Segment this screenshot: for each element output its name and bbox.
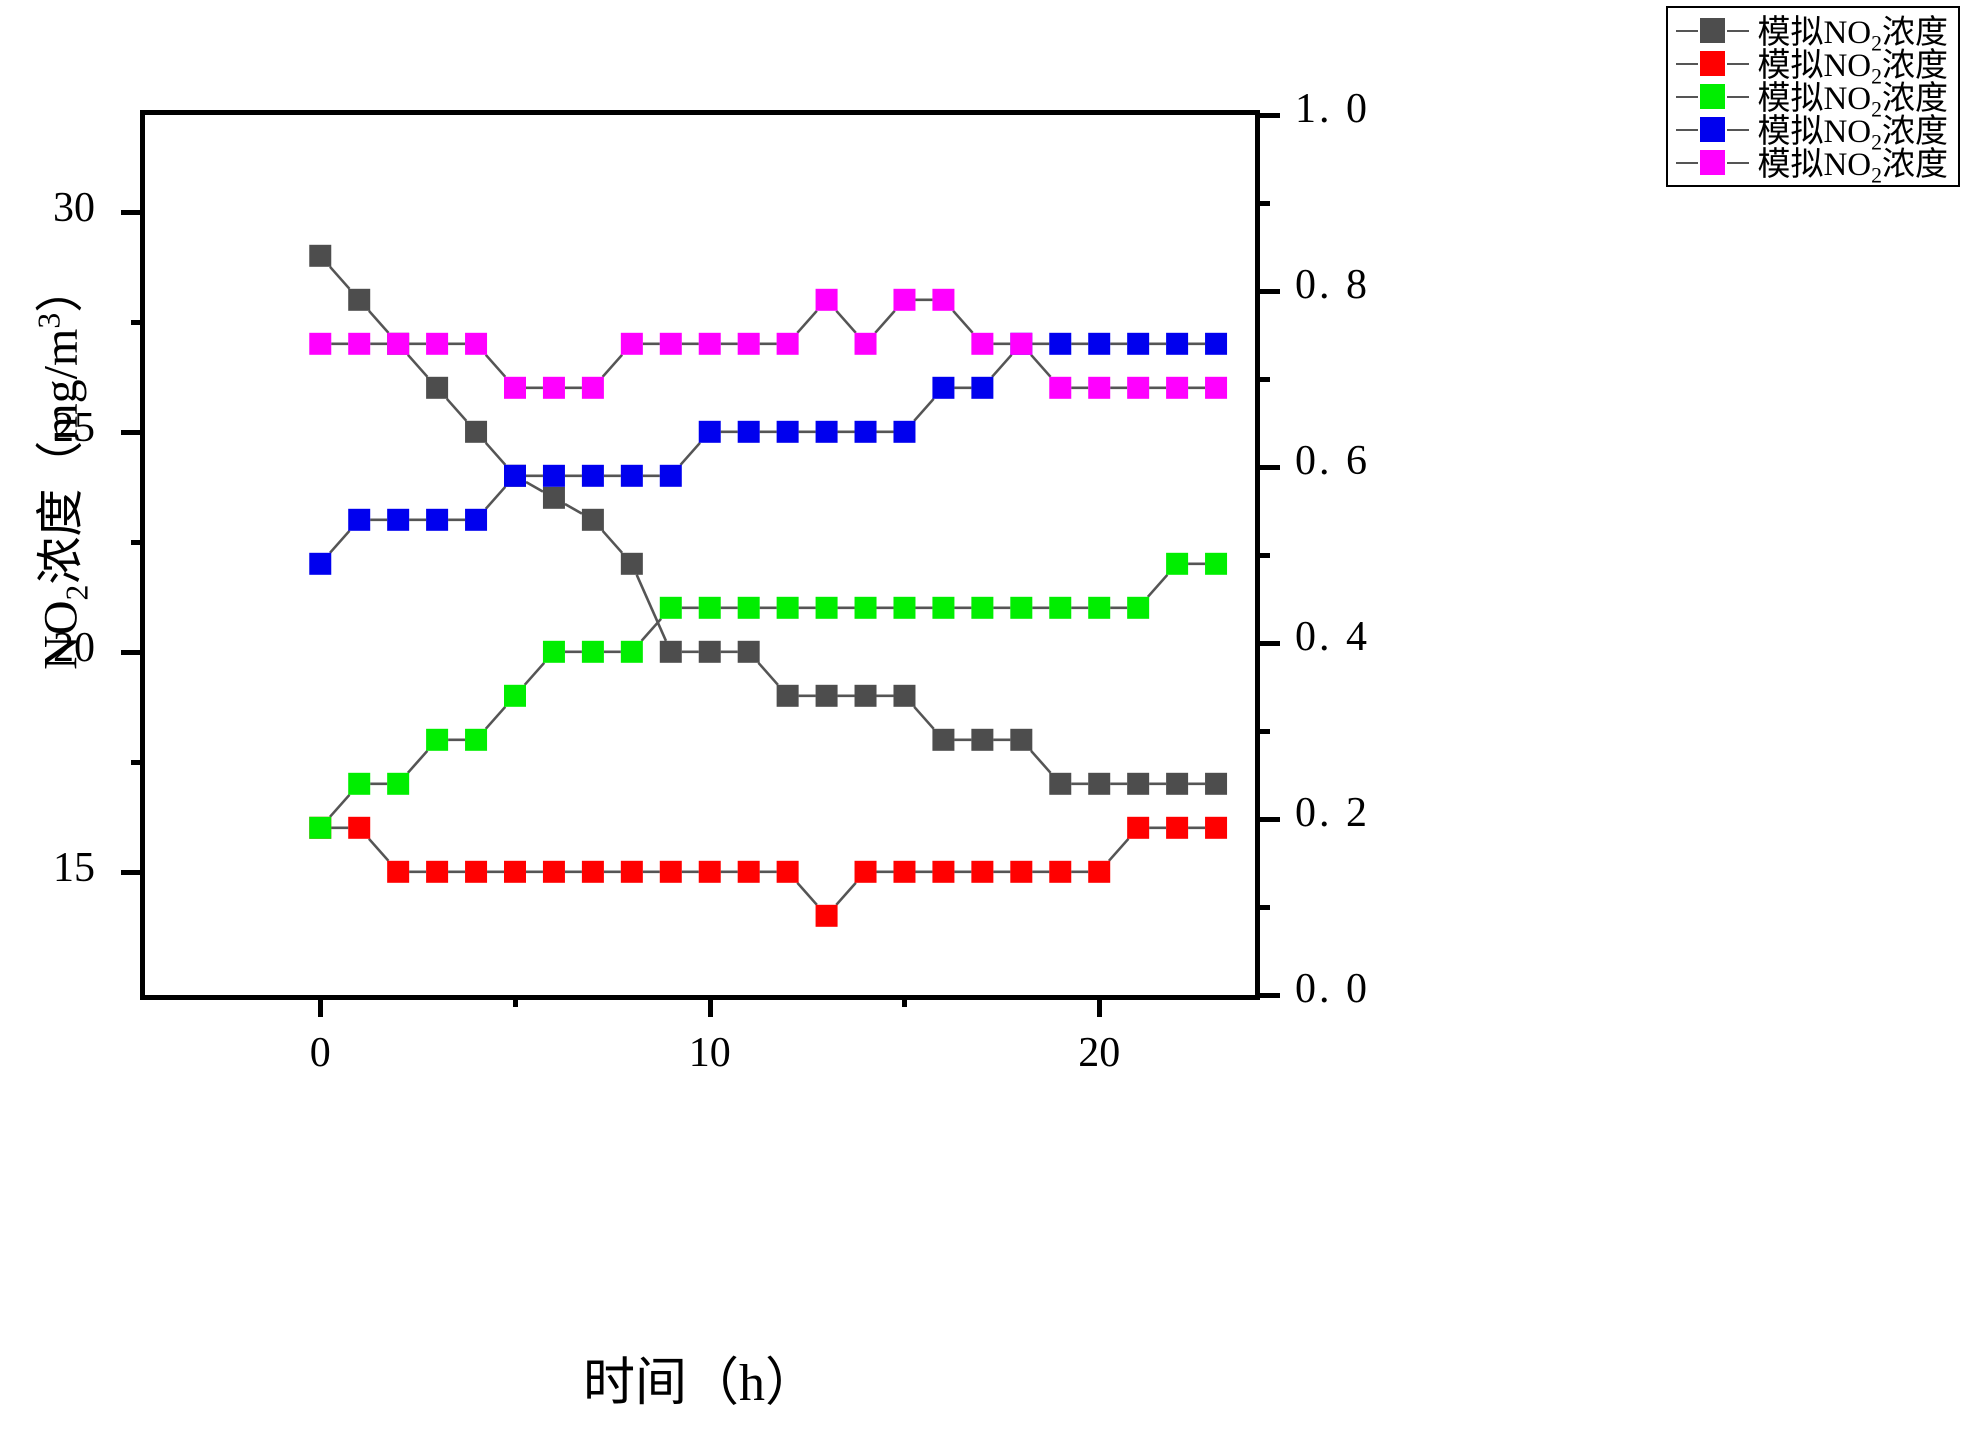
- data-point-marker: [1088, 773, 1110, 795]
- right-y-tick-minor: [1258, 377, 1270, 382]
- data-point-marker: [1205, 817, 1227, 839]
- data-point-marker: [1049, 377, 1071, 399]
- data-point-marker: [426, 509, 448, 531]
- series-connector: [642, 619, 661, 641]
- data-point-marker: [465, 729, 487, 751]
- series-2: [309, 553, 1227, 839]
- data-point-marker: [348, 289, 370, 311]
- data-point-marker: [309, 333, 331, 355]
- chart-legend[interactable]: 模拟NO2浓度模拟NO2浓度模拟NO2浓度模拟NO2浓度模拟NO2浓度: [1666, 6, 1960, 187]
- series-connector: [992, 355, 1011, 377]
- right-y-tick-label: 1. 0: [1295, 85, 1370, 133]
- data-point-marker: [971, 729, 993, 751]
- data-point-marker: [660, 641, 682, 663]
- x-tick-minor: [513, 995, 518, 1007]
- data-point-marker: [387, 333, 409, 355]
- data-point-marker: [699, 333, 721, 355]
- data-point-marker: [348, 333, 370, 355]
- y-tick-minor: [131, 320, 143, 325]
- data-point-marker: [1010, 861, 1032, 883]
- data-point-marker: [1205, 773, 1227, 795]
- series-connector: [330, 531, 349, 553]
- data-point-marker: [971, 333, 993, 355]
- data-point-marker: [660, 861, 682, 883]
- data-point-marker: [348, 817, 370, 839]
- series-connector: [603, 355, 622, 377]
- data-point-marker: [738, 641, 760, 663]
- series-connector: [797, 311, 816, 333]
- data-point-marker: [426, 377, 448, 399]
- chart-root: NO2浓度（mg/m3） 时间（h） 01020152025300. 00. 2…: [0, 0, 1968, 1434]
- series-connector: [408, 355, 427, 377]
- x-tick-major: [1097, 995, 1102, 1017]
- data-point-marker: [582, 641, 604, 663]
- data-point-marker: [893, 421, 915, 443]
- y-tick-major: [121, 210, 143, 215]
- right-y-tick-label: 0. 0: [1295, 965, 1370, 1013]
- legend-swatch: [1700, 84, 1725, 109]
- series-connector: [953, 311, 972, 333]
- legend-line-left: [1676, 30, 1698, 32]
- series-connector: [681, 443, 700, 465]
- legend-line-left: [1676, 162, 1698, 164]
- data-point-marker: [932, 289, 954, 311]
- data-point-marker: [426, 333, 448, 355]
- data-point-marker: [1127, 597, 1149, 619]
- data-point-marker: [309, 245, 331, 267]
- series-connector: [1031, 751, 1050, 773]
- data-point-marker: [855, 421, 877, 443]
- right-y-tick-label: 0. 6: [1295, 437, 1370, 485]
- right-y-tick-major: [1258, 817, 1280, 822]
- data-point-marker: [465, 333, 487, 355]
- data-point-marker: [932, 597, 954, 619]
- data-point-marker: [971, 597, 993, 619]
- series-connector: [603, 531, 622, 553]
- data-point-marker: [465, 861, 487, 883]
- y-tick-label: 20: [0, 624, 95, 672]
- data-point-marker: [1166, 773, 1188, 795]
- right-y-tick-minor: [1258, 905, 1270, 910]
- data-point-marker: [387, 861, 409, 883]
- right-y-tick-minor: [1258, 729, 1270, 734]
- data-point-marker: [738, 421, 760, 443]
- x-tick-major: [318, 995, 323, 1017]
- series-3: [309, 333, 1227, 575]
- data-point-marker: [816, 421, 838, 443]
- data-point-marker: [504, 685, 526, 707]
- series-connector: [1031, 355, 1050, 377]
- data-point-marker: [699, 641, 721, 663]
- data-point-marker: [738, 333, 760, 355]
- series-connector: [914, 707, 933, 729]
- data-point-marker: [426, 729, 448, 751]
- data-point-marker: [1127, 817, 1149, 839]
- data-point-marker: [777, 333, 799, 355]
- y-tick-label: 15: [0, 844, 95, 892]
- right-y-tick-label: 0. 2: [1295, 789, 1370, 837]
- series-1: [309, 817, 1227, 927]
- data-point-marker: [971, 377, 993, 399]
- data-point-marker: [543, 487, 565, 509]
- data-point-marker: [465, 509, 487, 531]
- x-tick-label: 20: [1039, 1029, 1159, 1077]
- data-point-marker: [1088, 333, 1110, 355]
- series-connector: [875, 311, 894, 333]
- series-connector: [330, 795, 349, 817]
- data-point-marker: [855, 685, 877, 707]
- legend-item-4[interactable]: 模拟NO2浓度: [1676, 146, 1948, 179]
- data-point-marker: [660, 333, 682, 355]
- data-point-marker: [543, 861, 565, 883]
- data-point-marker: [855, 597, 877, 619]
- data-point-marker: [1205, 333, 1227, 355]
- data-point-marker: [504, 377, 526, 399]
- data-point-marker: [621, 465, 643, 487]
- data-point-marker: [1088, 377, 1110, 399]
- data-point-marker: [1088, 597, 1110, 619]
- data-point-marker: [1010, 729, 1032, 751]
- x-tick-label: 10: [650, 1029, 770, 1077]
- y-tick-label: 30: [0, 184, 95, 232]
- series-connector: [836, 883, 855, 905]
- right-y-tick-major: [1258, 641, 1280, 646]
- data-point-marker: [543, 641, 565, 663]
- y-tick-minor: [131, 760, 143, 765]
- data-point-marker: [855, 333, 877, 355]
- data-point-marker: [309, 817, 331, 839]
- data-point-marker: [543, 377, 565, 399]
- series-connector: [330, 267, 349, 289]
- data-point-marker: [971, 861, 993, 883]
- series-connector: [797, 883, 816, 905]
- right-y-tick-major: [1258, 289, 1280, 294]
- data-point-marker: [582, 509, 604, 531]
- data-point-marker: [1088, 861, 1110, 883]
- series-connector: [1148, 575, 1167, 597]
- data-point-marker: [1205, 553, 1227, 575]
- data-point-marker: [1205, 377, 1227, 399]
- data-point-marker: [621, 641, 643, 663]
- data-point-marker: [1049, 597, 1071, 619]
- data-point-marker: [777, 421, 799, 443]
- series-connector: [565, 504, 582, 514]
- data-point-marker: [465, 421, 487, 443]
- right-y-tick-major: [1258, 113, 1280, 118]
- x-tick-major: [708, 995, 713, 1017]
- data-point-marker: [777, 861, 799, 883]
- legend-line-left: [1676, 129, 1698, 131]
- data-point-marker: [932, 861, 954, 883]
- series-connector: [526, 482, 543, 492]
- data-point-marker: [893, 289, 915, 311]
- data-point-marker: [816, 597, 838, 619]
- series-connector: [914, 399, 933, 421]
- y-tick-major: [121, 650, 143, 655]
- data-point-marker: [699, 597, 721, 619]
- data-point-marker: [1127, 773, 1149, 795]
- data-point-marker: [660, 597, 682, 619]
- legend-line-left: [1676, 63, 1698, 65]
- right-y-tick-label: 0. 4: [1295, 613, 1370, 661]
- data-point-marker: [426, 861, 448, 883]
- data-point-marker: [893, 685, 915, 707]
- data-point-marker: [621, 553, 643, 575]
- data-point-marker: [932, 377, 954, 399]
- data-point-marker: [893, 597, 915, 619]
- right-y-tick-minor: [1258, 553, 1270, 558]
- series-connector: [758, 663, 777, 685]
- legend-line-right: [1727, 96, 1749, 98]
- legend-line-left: [1676, 96, 1698, 98]
- data-point-marker: [1010, 597, 1032, 619]
- y-tick-label: 25: [0, 404, 95, 452]
- data-point-marker: [1049, 773, 1071, 795]
- data-point-marker: [582, 377, 604, 399]
- data-point-marker: [1166, 377, 1188, 399]
- data-point-marker: [504, 861, 526, 883]
- right-y-tick-minor: [1258, 201, 1270, 206]
- data-point-marker: [621, 861, 643, 883]
- data-point-marker: [816, 905, 838, 927]
- data-point-marker: [855, 861, 877, 883]
- data-point-marker: [1166, 817, 1188, 839]
- data-point-marker: [893, 861, 915, 883]
- data-point-marker: [777, 597, 799, 619]
- legend-swatch: [1700, 117, 1725, 142]
- series-connector: [486, 443, 505, 465]
- data-point-marker: [932, 729, 954, 751]
- legend-line-right: [1727, 30, 1749, 32]
- data-point-marker: [309, 553, 331, 575]
- series-connector: [486, 487, 505, 509]
- data-point-marker: [1166, 333, 1188, 355]
- data-point-marker: [348, 773, 370, 795]
- right-y-tick-label: 0. 8: [1295, 261, 1370, 309]
- y-axis-title: NO2浓度（mg/m3）: [21, 147, 96, 787]
- legend-label: 模拟NO2浓度: [1757, 137, 1948, 189]
- data-point-marker: [387, 509, 409, 531]
- series-connector: [408, 751, 427, 773]
- data-point-marker: [699, 421, 721, 443]
- data-point-marker: [1010, 333, 1032, 355]
- series-connector: [1109, 839, 1128, 861]
- data-point-marker: [1127, 377, 1149, 399]
- x-tick-label: 0: [260, 1029, 380, 1077]
- legend-line-right: [1727, 129, 1749, 131]
- y-tick-minor: [131, 540, 143, 545]
- data-point-marker: [699, 861, 721, 883]
- data-point-marker: [738, 597, 760, 619]
- data-point-marker: [1166, 553, 1188, 575]
- data-point-marker: [1049, 861, 1071, 883]
- legend-swatch: [1700, 18, 1725, 43]
- data-point-marker: [582, 465, 604, 487]
- data-point-marker: [582, 861, 604, 883]
- y-tick-major: [121, 870, 143, 875]
- data-point-marker: [621, 333, 643, 355]
- data-point-marker: [387, 773, 409, 795]
- series-connector: [447, 399, 466, 421]
- data-point-marker: [777, 685, 799, 707]
- x-tick-minor: [902, 995, 907, 1007]
- series-connector: [486, 707, 505, 729]
- right-y-tick-major: [1258, 993, 1280, 998]
- legend-swatch: [1700, 150, 1725, 175]
- series-connector: [486, 355, 505, 377]
- data-point-marker: [504, 465, 526, 487]
- data-point-marker: [1127, 333, 1149, 355]
- legend-line-right: [1727, 63, 1749, 65]
- series-connector: [525, 663, 544, 685]
- legend-line-right: [1727, 162, 1749, 164]
- plot-canvas: [145, 115, 1255, 995]
- series-connector: [369, 311, 388, 333]
- legend-swatch: [1700, 51, 1725, 76]
- data-point-marker: [1049, 333, 1071, 355]
- series-connector: [836, 311, 855, 333]
- data-point-marker: [348, 509, 370, 531]
- series-connector: [369, 839, 388, 861]
- data-point-marker: [816, 685, 838, 707]
- x-axis-title: 时间（h）: [400, 1340, 1000, 1415]
- y-tick-major: [121, 430, 143, 435]
- data-point-marker: [660, 465, 682, 487]
- data-point-marker: [816, 289, 838, 311]
- data-point-marker: [738, 861, 760, 883]
- right-y-tick-major: [1258, 465, 1280, 470]
- data-point-marker: [543, 465, 565, 487]
